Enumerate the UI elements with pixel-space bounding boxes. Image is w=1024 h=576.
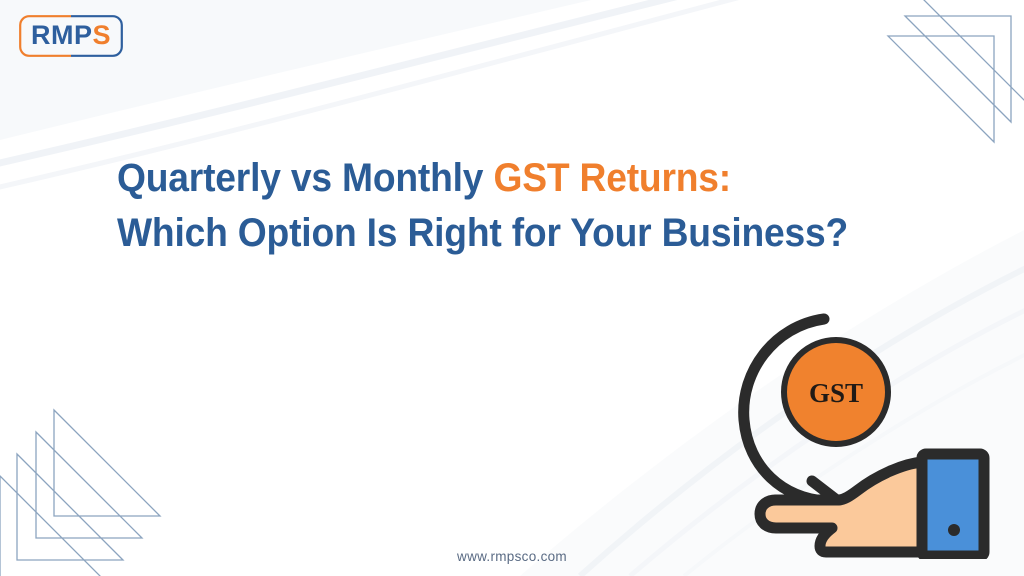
gst-coin-icon: GST: [784, 340, 888, 444]
logo-text-s: S: [92, 22, 111, 49]
triangle-decoration-top-right: [870, 0, 1024, 166]
open-palm-hand-icon: [760, 454, 984, 556]
page-title: Quarterly vs Monthly GST Returns: Which …: [117, 151, 907, 261]
brand-logo[interactable]: RMPS: [19, 15, 123, 57]
headline-line-2: Which Option Is Right for Your Business?: [117, 206, 852, 261]
sleeve-cuff: [922, 454, 984, 556]
headline-line-1: Quarterly vs Monthly GST Returns:: [117, 151, 852, 206]
logo-wordmark: RMPS: [19, 15, 123, 57]
banner-canvas: RMPS Quarterly vs Monthly GST Returns: W…: [0, 0, 1024, 576]
sleeve-button-icon: [948, 524, 960, 536]
footer-website-url[interactable]: www.rmpsco.com: [0, 549, 1024, 564]
gst-coin-label: GST: [809, 378, 863, 408]
logo-text-rmp: RMP: [31, 22, 93, 49]
headline-line-1-primary: Quarterly vs Monthly: [117, 156, 493, 200]
gst-hand-illustration: GST: [726, 294, 1006, 559]
headline-line-1-accent: GST Returns:: [493, 156, 731, 200]
